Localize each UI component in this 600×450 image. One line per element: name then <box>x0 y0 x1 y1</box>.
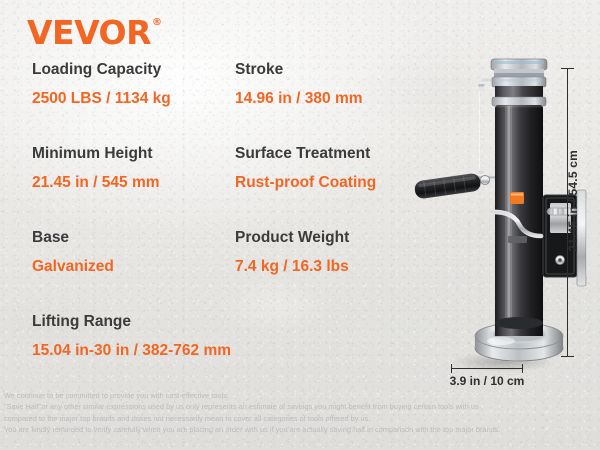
brand-name: VEVOR <box>27 16 151 49</box>
horizontal-dimension-line <box>451 364 523 372</box>
vevor-logo: VEVOR ® <box>27 16 162 49</box>
handle-grip <box>414 172 482 199</box>
spec-label: Minimum Height <box>32 146 215 162</box>
dimension-cap-bottom <box>561 356 574 357</box>
dimension-line <box>451 368 523 369</box>
disclaimer-line: We continue to be committed to provide y… <box>4 390 596 401</box>
spec-loading-capacity: Loading Capacity 2500 LBS / 1134 kg <box>0 62 215 146</box>
spec-lifting-range: Lifting Range 15.04 in-30 in / 382-762 m… <box>0 314 215 398</box>
spec-plate <box>508 236 527 243</box>
specification-grid: Loading Capacity 2500 LBS / 1134 kg Stro… <box>0 62 430 398</box>
spec-value: Galvanized <box>32 259 215 275</box>
spec-value: 15.04 in-30 in / 382-762 mm <box>32 343 215 359</box>
spec-base: Base Galvanized <box>0 230 215 314</box>
gear-housing <box>491 59 547 106</box>
spec-row: Loading Capacity 2500 LBS / 1134 kg Stro… <box>0 62 430 146</box>
spec-label: Lifting Range <box>32 314 215 330</box>
disclaimer-text: We continue to be committed to provide y… <box>4 390 596 435</box>
disclaimer-line: compared to the major top brands and dos… <box>4 413 596 424</box>
horizontal-dimension-label: 3.9 in / 10 cm <box>437 374 537 388</box>
spec-row: Lifting Range 15.04 in-30 in / 382-762 m… <box>0 314 430 398</box>
vertical-dimension-label: 21.45 in / 54.5 cm <box>566 150 580 252</box>
disclaimer-line: "Save Half"or any other similar expressi… <box>4 401 596 412</box>
disclaimer-line: You are kindly reminded to verify carefu… <box>4 424 596 435</box>
mount-bar <box>577 190 598 286</box>
grip-collar <box>480 175 489 184</box>
spec-value: 2500 LBS / 1134 kg <box>32 91 215 107</box>
spec-label: Loading Capacity <box>32 62 215 78</box>
round-foot-base <box>475 317 563 361</box>
dimension-cap-right <box>522 364 523 373</box>
spec-row: Base Galvanized Product Weight 7.4 kg / … <box>0 230 430 314</box>
spec-minimum-height: Minimum Height 21.45 in / 545 mm <box>0 146 215 230</box>
registered-trademark-icon: ® <box>152 18 162 28</box>
spec-value: 21.45 in / 545 mm <box>32 175 215 191</box>
vertical-dimension-line <box>560 68 562 357</box>
spec-label: Base <box>32 230 215 246</box>
spec-row: Minimum Height 21.45 in / 545 mm Surface… <box>0 146 430 230</box>
